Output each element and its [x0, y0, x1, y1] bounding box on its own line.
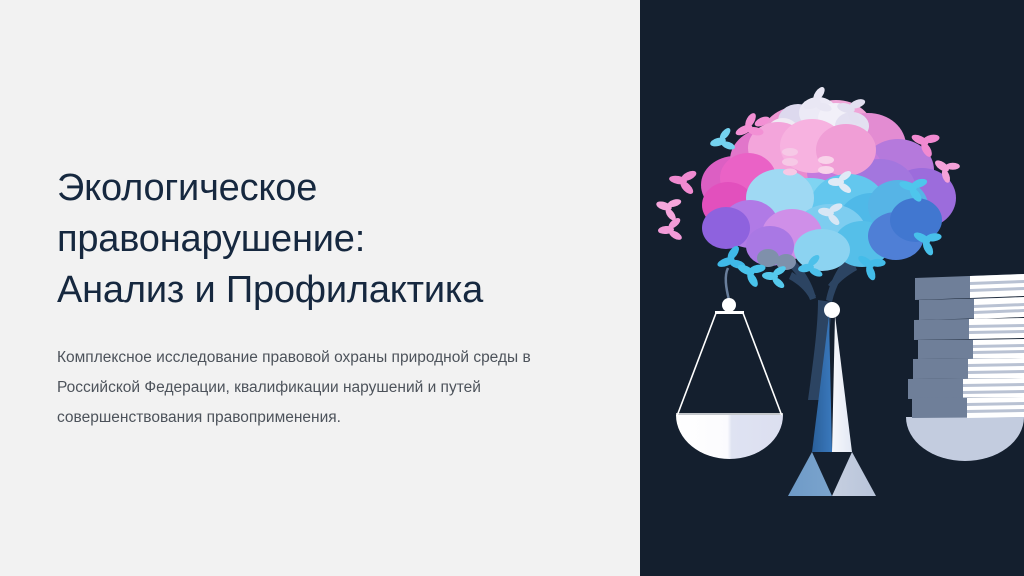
title-panel: Экологическое правонарушение: Анализ и П… [0, 0, 640, 576]
list-item [918, 339, 1024, 359]
illustration-panel [640, 0, 1024, 576]
book-stack [908, 274, 1024, 418]
list-item [908, 378, 1024, 399]
list-item [914, 318, 1024, 340]
list-item [915, 274, 1024, 300]
tree-scales-books-illustration [640, 0, 1024, 576]
slide-subtitle: Комплексное исследование правовой охраны… [57, 316, 587, 433]
page-title: Экологическое правонарушение: Анализ и П… [57, 163, 597, 316]
list-item [919, 297, 1024, 320]
list-item [912, 397, 1024, 418]
list-item [913, 358, 1024, 379]
presentation-slide: Экологическое правонарушение: Анализ и П… [0, 0, 1024, 576]
text-block: Экологическое правонарушение: Анализ и П… [57, 163, 597, 433]
